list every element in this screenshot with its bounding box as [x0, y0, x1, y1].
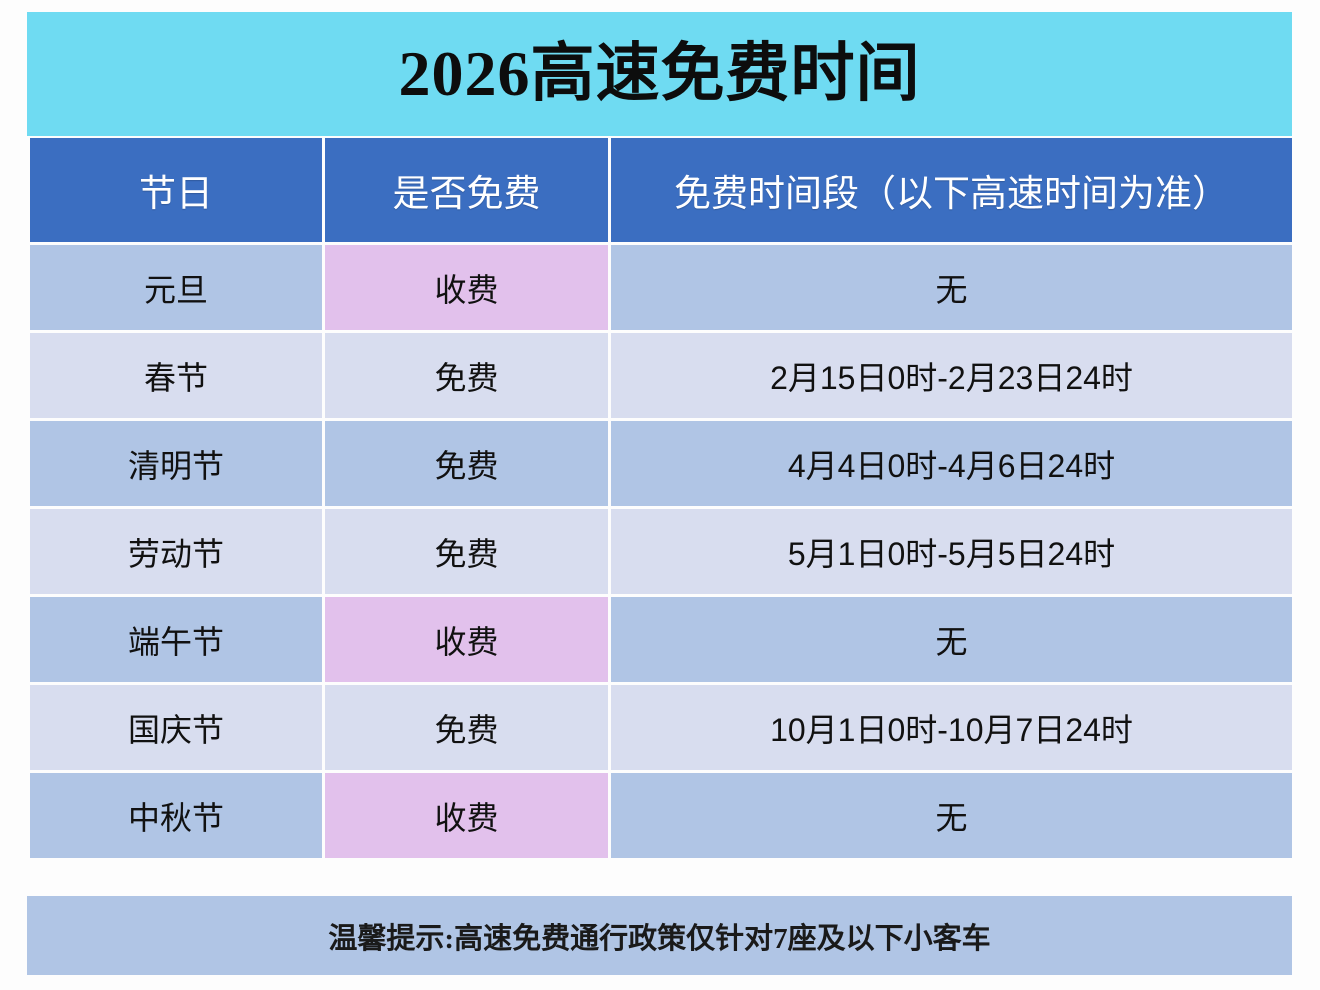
cell-status: 收费 [324, 244, 610, 332]
table-row: 春节 免费 2月15日0时-2月23日24时 [29, 332, 1294, 420]
column-header-status: 是否免费 [324, 138, 610, 244]
cell-period: 无 [610, 772, 1294, 860]
cell-holiday: 春节 [29, 332, 324, 420]
cell-holiday: 元旦 [29, 244, 324, 332]
cell-holiday: 劳动节 [29, 508, 324, 596]
table-row: 中秋节 收费 无 [29, 772, 1294, 860]
cell-holiday: 国庆节 [29, 684, 324, 772]
column-header-period: 免费时间段（以下高速时间为准） [610, 138, 1294, 244]
cell-holiday: 中秋节 [29, 772, 324, 860]
title-banner: 2026高速免费时间 [27, 12, 1292, 136]
cell-period: 无 [610, 596, 1294, 684]
cell-status: 免费 [324, 684, 610, 772]
table-header-row: 节日 是否免费 免费时间段（以下高速时间为准） [29, 138, 1294, 244]
table-body: 元旦 收费 无 春节 免费 2月15日0时-2月23日24时 清明节 免费 4月… [29, 244, 1294, 860]
highway-free-schedule-table: 节日 是否免费 免费时间段（以下高速时间为准） 元旦 收费 无 春节 免费 2月… [27, 138, 1295, 861]
cell-period: 4月4日0时-4月6日24时 [610, 420, 1294, 508]
cell-status: 收费 [324, 596, 610, 684]
cell-period: 无 [610, 244, 1294, 332]
cell-holiday: 端午节 [29, 596, 324, 684]
footer-note-band: 温馨提示:高速免费通行政策仅针对7座及以下小客车 [27, 896, 1292, 975]
cell-status: 免费 [324, 420, 610, 508]
cell-period: 10月1日0时-10月7日24时 [610, 684, 1294, 772]
table-row: 清明节 免费 4月4日0时-4月6日24时 [29, 420, 1294, 508]
cell-status: 免费 [324, 508, 610, 596]
infographic-page: 2026高速免费时间 节日 是否免费 免费时间段（以下高速时间为准） 元旦 收费… [0, 0, 1320, 990]
cell-period: 5月1日0时-5月5日24时 [610, 508, 1294, 596]
table-row: 元旦 收费 无 [29, 244, 1294, 332]
table-row: 国庆节 免费 10月1日0时-10月7日24时 [29, 684, 1294, 772]
cell-status: 免费 [324, 332, 610, 420]
column-header-holiday: 节日 [29, 138, 324, 244]
page-title: 2026高速免费时间 [399, 42, 921, 106]
table-row: 劳动节 免费 5月1日0时-5月5日24时 [29, 508, 1294, 596]
cell-status: 收费 [324, 772, 610, 860]
table-row: 端午节 收费 无 [29, 596, 1294, 684]
cell-holiday: 清明节 [29, 420, 324, 508]
footer-note-text: 温馨提示:高速免费通行政策仅针对7座及以下小客车 [328, 915, 990, 957]
cell-period: 2月15日0时-2月23日24时 [610, 332, 1294, 420]
